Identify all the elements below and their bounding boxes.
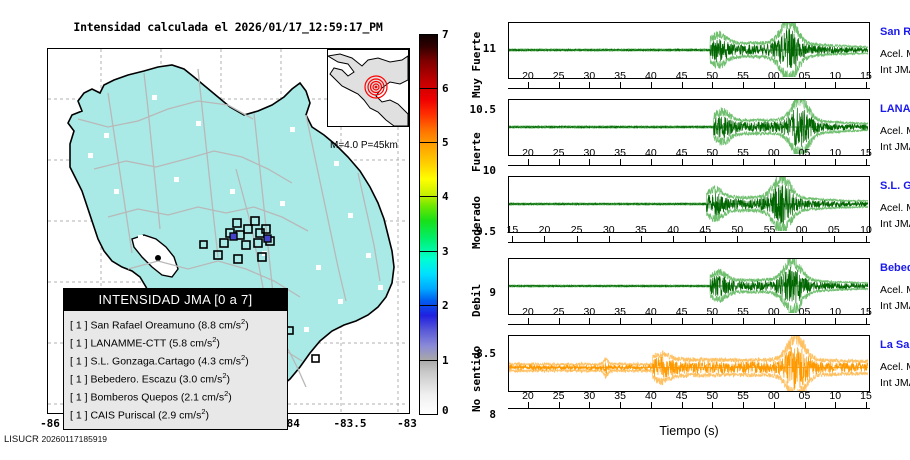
colorbar-tick-label: 3 bbox=[442, 245, 449, 258]
axis-tick bbox=[712, 402, 713, 409]
axis-tick bbox=[866, 159, 867, 166]
list-item: [ 1 ] San Rafael Oreamuno (8.8 cm/s2) bbox=[70, 315, 287, 333]
axis-tick-label: 35 bbox=[607, 390, 633, 402]
waveform-panel[interactable] bbox=[508, 335, 870, 392]
axis-tick-label: 00 bbox=[761, 70, 787, 82]
axis-tick-label: 30 bbox=[576, 306, 602, 318]
axis-tick-label: 55 bbox=[730, 390, 756, 402]
axis-tick-label: 00 bbox=[761, 306, 787, 318]
axis-tick-label: 00 bbox=[761, 390, 787, 402]
legend-paren: ) bbox=[245, 320, 249, 332]
axis-tick bbox=[682, 402, 683, 409]
colorbar-tick-label: 1 bbox=[442, 354, 449, 367]
station-label: La Sabana bbox=[880, 339, 910, 351]
time-axis-label: Tiempo (s) bbox=[508, 424, 870, 438]
colorbar-tick-label: 5 bbox=[442, 136, 449, 149]
axis-tick-label: 30 bbox=[596, 224, 622, 236]
axis-tick bbox=[651, 318, 652, 325]
axis-tick-label: 40 bbox=[660, 224, 686, 236]
station-jma: Int JMA: 1 bbox=[880, 300, 910, 312]
axis-tick bbox=[774, 402, 775, 409]
axis-tick-label: 55 bbox=[730, 147, 756, 159]
axis-tick bbox=[620, 402, 621, 409]
map-y-tick: 10.5 bbox=[456, 103, 496, 116]
axis-tick bbox=[805, 159, 806, 166]
waveform-axis: 202530354045505500051015 bbox=[508, 80, 870, 94]
axis-tick bbox=[528, 318, 529, 325]
footer-credit: LISUCR 20260117185919 bbox=[4, 434, 107, 445]
axis-tick bbox=[805, 82, 806, 89]
axis-tick bbox=[589, 318, 590, 325]
legend-station: S.L. Gonzaga.Cartago bbox=[90, 356, 194, 368]
axis-tick bbox=[528, 159, 529, 166]
axis-tick bbox=[705, 236, 706, 243]
axis-tick-label: 30 bbox=[576, 147, 602, 159]
station-jma: Int JMA: 1 bbox=[880, 141, 910, 153]
axis-tick bbox=[528, 402, 529, 409]
axis-tick-label: 40 bbox=[638, 390, 664, 402]
axis-tick bbox=[834, 236, 835, 243]
footer-code: 20260117185919 bbox=[41, 434, 107, 444]
colorbar-category-label: Muy Fuerte bbox=[470, 32, 483, 98]
epicenter-center-dot bbox=[375, 86, 378, 89]
list-item: [ 1 ] S.L. Gonzaga.Cartago (4.3 cm/s2) bbox=[70, 351, 287, 369]
axis-tick-label: 35 bbox=[628, 224, 654, 236]
legend-paren: ) bbox=[228, 392, 232, 404]
colorbar-category-label: No sentido bbox=[470, 346, 483, 412]
magnitude-depth-label: M=4.0 P=45km bbox=[330, 140, 398, 151]
waveform-axis: 152025303540455055000510 bbox=[508, 234, 870, 248]
axis-tick-label: 15 bbox=[499, 224, 525, 236]
axis-tick bbox=[737, 236, 738, 243]
axis-tick-label: 10 bbox=[853, 224, 879, 236]
axis-tick-label: 30 bbox=[576, 70, 602, 82]
axis-tick-label: 25 bbox=[546, 147, 572, 159]
axis-tick-label: 15 bbox=[853, 147, 879, 159]
station-accel: Acel. Max. 0.2 bbox=[880, 361, 910, 373]
axis-tick-label: 05 bbox=[792, 70, 818, 82]
axis-tick-label: 05 bbox=[792, 390, 818, 402]
axis-tick bbox=[770, 236, 771, 243]
axis-tick bbox=[712, 82, 713, 89]
axis-tick-label: 35 bbox=[607, 70, 633, 82]
station-label: LANAMME-CTT bbox=[880, 103, 910, 115]
axis-tick bbox=[835, 318, 836, 325]
axis-tick-label: 15 bbox=[853, 306, 879, 318]
axis-tick bbox=[866, 236, 867, 243]
legend-level: [ 1 ] bbox=[70, 392, 88, 404]
axis-tick-label: 25 bbox=[546, 306, 572, 318]
waveform-axis: 202530354045505500051015 bbox=[508, 316, 870, 330]
station-jma: Int JMA: 0 bbox=[880, 377, 910, 389]
axis-tick bbox=[589, 82, 590, 89]
axis-tick bbox=[866, 318, 867, 325]
axis-tick bbox=[651, 159, 652, 166]
axis-tick bbox=[835, 402, 836, 409]
station-label: San Rafael Oreamuno bbox=[880, 26, 910, 38]
colorbar-tick-label: 2 bbox=[442, 299, 449, 312]
axis-tick-label: 20 bbox=[531, 224, 557, 236]
colorbar-tick bbox=[419, 88, 438, 89]
colorbar-tick-label: 6 bbox=[442, 82, 449, 95]
colorbar-category-label: Fuerte bbox=[470, 132, 483, 172]
axis-tick-label: 15 bbox=[853, 70, 879, 82]
legend-title: INTENSIDAD JMA [0 a 7] bbox=[64, 289, 287, 311]
axis-tick bbox=[589, 402, 590, 409]
waveform-panel[interactable] bbox=[508, 176, 870, 233]
colorbar-tick bbox=[419, 196, 438, 197]
island-marker bbox=[155, 255, 161, 261]
colorbar-tick-label: 4 bbox=[442, 190, 449, 203]
legend-level: [ 1 ] bbox=[70, 320, 88, 332]
list-item: [ 1 ] CAIS Puriscal (2.9 cm/s2) bbox=[70, 405, 287, 423]
axis-tick-label: 35 bbox=[607, 147, 633, 159]
intensity-legend: INTENSIDAD JMA [0 a 7] [ 1 ] San Rafael … bbox=[63, 288, 288, 430]
axis-tick-label: 00 bbox=[761, 147, 787, 159]
station-label: S.L. Gonzaga,Cartago bbox=[880, 180, 910, 192]
legend-paren: ) bbox=[227, 374, 231, 386]
legend-accel: (4.3 cm/s bbox=[198, 356, 241, 368]
axis-tick bbox=[589, 159, 590, 166]
axis-tick-label: 45 bbox=[669, 147, 695, 159]
axis-tick bbox=[774, 318, 775, 325]
axis-tick bbox=[682, 159, 683, 166]
legend-station: CAIS Puriscal bbox=[90, 410, 155, 422]
legend-accel: (8.8 cm/s bbox=[198, 320, 241, 332]
legend-level: [ 1 ] bbox=[70, 338, 88, 350]
axis-tick bbox=[712, 159, 713, 166]
axis-tick-label: 50 bbox=[699, 390, 725, 402]
station-accel: Acel. Max. 0.9 bbox=[880, 202, 910, 214]
axis-tick bbox=[609, 236, 610, 243]
legend-station: San Rafael Oreamuno bbox=[90, 320, 194, 332]
station-jma: Int JMA: 1 bbox=[880, 64, 910, 76]
station-label: Bebedero, Escazu bbox=[880, 262, 910, 274]
waveform-axis: 202530354045505500051015 bbox=[508, 157, 870, 171]
axis-tick-label: 45 bbox=[692, 224, 718, 236]
axis-tick bbox=[641, 236, 642, 243]
axis-tick bbox=[712, 318, 713, 325]
axis-tick-label: 40 bbox=[638, 147, 664, 159]
axis-tick bbox=[651, 402, 652, 409]
axis-tick bbox=[743, 402, 744, 409]
axis-tick bbox=[512, 236, 513, 243]
axis-tick-label: 55 bbox=[757, 224, 783, 236]
axis-tick-label: 10 bbox=[822, 306, 848, 318]
colorbar-tick-label: 7 bbox=[442, 28, 449, 41]
legend-entry-list: [ 1 ] San Rafael Oreamuno (8.8 cm/s2) [ … bbox=[64, 311, 287, 429]
axis-tick bbox=[835, 159, 836, 166]
axis-tick-label: 10 bbox=[822, 147, 848, 159]
axis-tick-label: 45 bbox=[669, 306, 695, 318]
axis-tick bbox=[528, 82, 529, 89]
list-item: [ 1 ] LANAMME-CTT (5.8 cm/s2) bbox=[70, 333, 287, 351]
axis-tick-label: 55 bbox=[730, 306, 756, 318]
axis-tick bbox=[620, 318, 621, 325]
waveform-axis: 202530354045505500051015 bbox=[508, 400, 870, 414]
colorbar-category-label: Moderado bbox=[470, 196, 483, 249]
locator-inset-map[interactable] bbox=[327, 49, 409, 127]
axis-tick-label: 40 bbox=[638, 70, 664, 82]
legend-station: Bomberos Quepos bbox=[90, 392, 178, 404]
axis-tick-label: 45 bbox=[669, 390, 695, 402]
axis-tick bbox=[743, 159, 744, 166]
axis-tick bbox=[866, 82, 867, 89]
colorbar-category-label: Debil bbox=[470, 284, 483, 317]
axis-tick bbox=[673, 236, 674, 243]
axis-tick bbox=[805, 402, 806, 409]
axis-tick-label: 35 bbox=[607, 306, 633, 318]
axis-tick-label: 15 bbox=[853, 390, 879, 402]
station-accel: Acel. Max. 1.2 bbox=[880, 125, 910, 137]
axis-tick bbox=[835, 82, 836, 89]
axis-tick-label: 10 bbox=[822, 70, 848, 82]
legend-station: LANAMME-CTT bbox=[90, 338, 166, 350]
list-item: [ 1 ] Bebedero. Escazu (3.0 cm/s2) bbox=[70, 369, 287, 387]
colorbar-tick bbox=[419, 142, 438, 143]
map-x-tick: -83 bbox=[377, 417, 437, 430]
intensity-colorbar bbox=[419, 34, 438, 415]
legend-paren: ) bbox=[216, 338, 220, 350]
list-item: [ 1 ] Bomberos Quepos (2.1 cm/s2) bbox=[70, 387, 287, 405]
axis-tick bbox=[774, 159, 775, 166]
legend-level: [ 1 ] bbox=[70, 410, 88, 422]
legend-paren: ) bbox=[206, 410, 210, 422]
axis-tick bbox=[774, 82, 775, 89]
axis-tick-label: 25 bbox=[546, 390, 572, 402]
legend-paren: ) bbox=[245, 356, 249, 368]
axis-tick bbox=[577, 236, 578, 243]
colorbar-tick bbox=[419, 305, 438, 306]
axis-tick bbox=[559, 159, 560, 166]
axis-tick-label: 50 bbox=[699, 70, 725, 82]
axis-tick bbox=[559, 82, 560, 89]
axis-tick bbox=[682, 318, 683, 325]
axis-tick-label: 50 bbox=[699, 306, 725, 318]
axis-tick-label: 25 bbox=[546, 70, 572, 82]
axis-tick-label: 20 bbox=[515, 390, 541, 402]
axis-tick-label: 40 bbox=[638, 306, 664, 318]
axis-tick bbox=[802, 236, 803, 243]
legend-level: [ 1 ] bbox=[70, 356, 88, 368]
station-jma: Int JMA: 1 bbox=[880, 218, 910, 230]
axis-tick bbox=[743, 318, 744, 325]
axis-tick bbox=[559, 402, 560, 409]
axis-tick-label: 20 bbox=[515, 70, 541, 82]
axis-tick bbox=[805, 318, 806, 325]
legend-station: Bebedero. Escazu bbox=[90, 374, 176, 386]
axis-tick-label: 30 bbox=[576, 390, 602, 402]
footer-label: LISUCR bbox=[4, 434, 39, 445]
axis-tick bbox=[544, 236, 545, 243]
legend-accel: (2.9 cm/s bbox=[158, 410, 201, 422]
axis-tick bbox=[866, 402, 867, 409]
axis-tick-label: 00 bbox=[789, 224, 815, 236]
axis-tick-label: 50 bbox=[699, 147, 725, 159]
colorbar-tick-label: 0 bbox=[442, 404, 449, 417]
axis-tick bbox=[743, 82, 744, 89]
axis-tick-label: 20 bbox=[515, 306, 541, 318]
colorbar-tick bbox=[419, 360, 438, 361]
station-accel: Acel. Max. 0.8 bbox=[880, 284, 910, 296]
colorbar-tick bbox=[419, 251, 438, 252]
axis-tick bbox=[651, 82, 652, 89]
station-accel: Acel. Max. 1.2 bbox=[880, 48, 910, 60]
axis-tick-label: 55 bbox=[730, 70, 756, 82]
axis-tick-label: 45 bbox=[669, 70, 695, 82]
map-x-tick: -83.5 bbox=[320, 417, 380, 430]
legend-level: [ 1 ] bbox=[70, 374, 88, 386]
axis-tick-label: 20 bbox=[515, 147, 541, 159]
axis-tick-label: 05 bbox=[821, 224, 847, 236]
axis-tick-label: 05 bbox=[792, 147, 818, 159]
axis-tick bbox=[559, 318, 560, 325]
axis-tick-label: 05 bbox=[792, 306, 818, 318]
legend-accel: (2.1 cm/s bbox=[181, 392, 224, 404]
axis-tick-label: 50 bbox=[724, 224, 750, 236]
legend-accel: (3.0 cm/s bbox=[179, 374, 222, 386]
legend-accel: (5.8 cm/s bbox=[169, 338, 212, 350]
axis-tick-label: 25 bbox=[564, 224, 590, 236]
axis-tick bbox=[620, 82, 621, 89]
axis-tick-label: 10 bbox=[822, 390, 848, 402]
page-title: Intensidad calculada el 2026/01/17_12:59… bbox=[0, 20, 456, 34]
axis-tick bbox=[620, 159, 621, 166]
axis-tick bbox=[682, 82, 683, 89]
